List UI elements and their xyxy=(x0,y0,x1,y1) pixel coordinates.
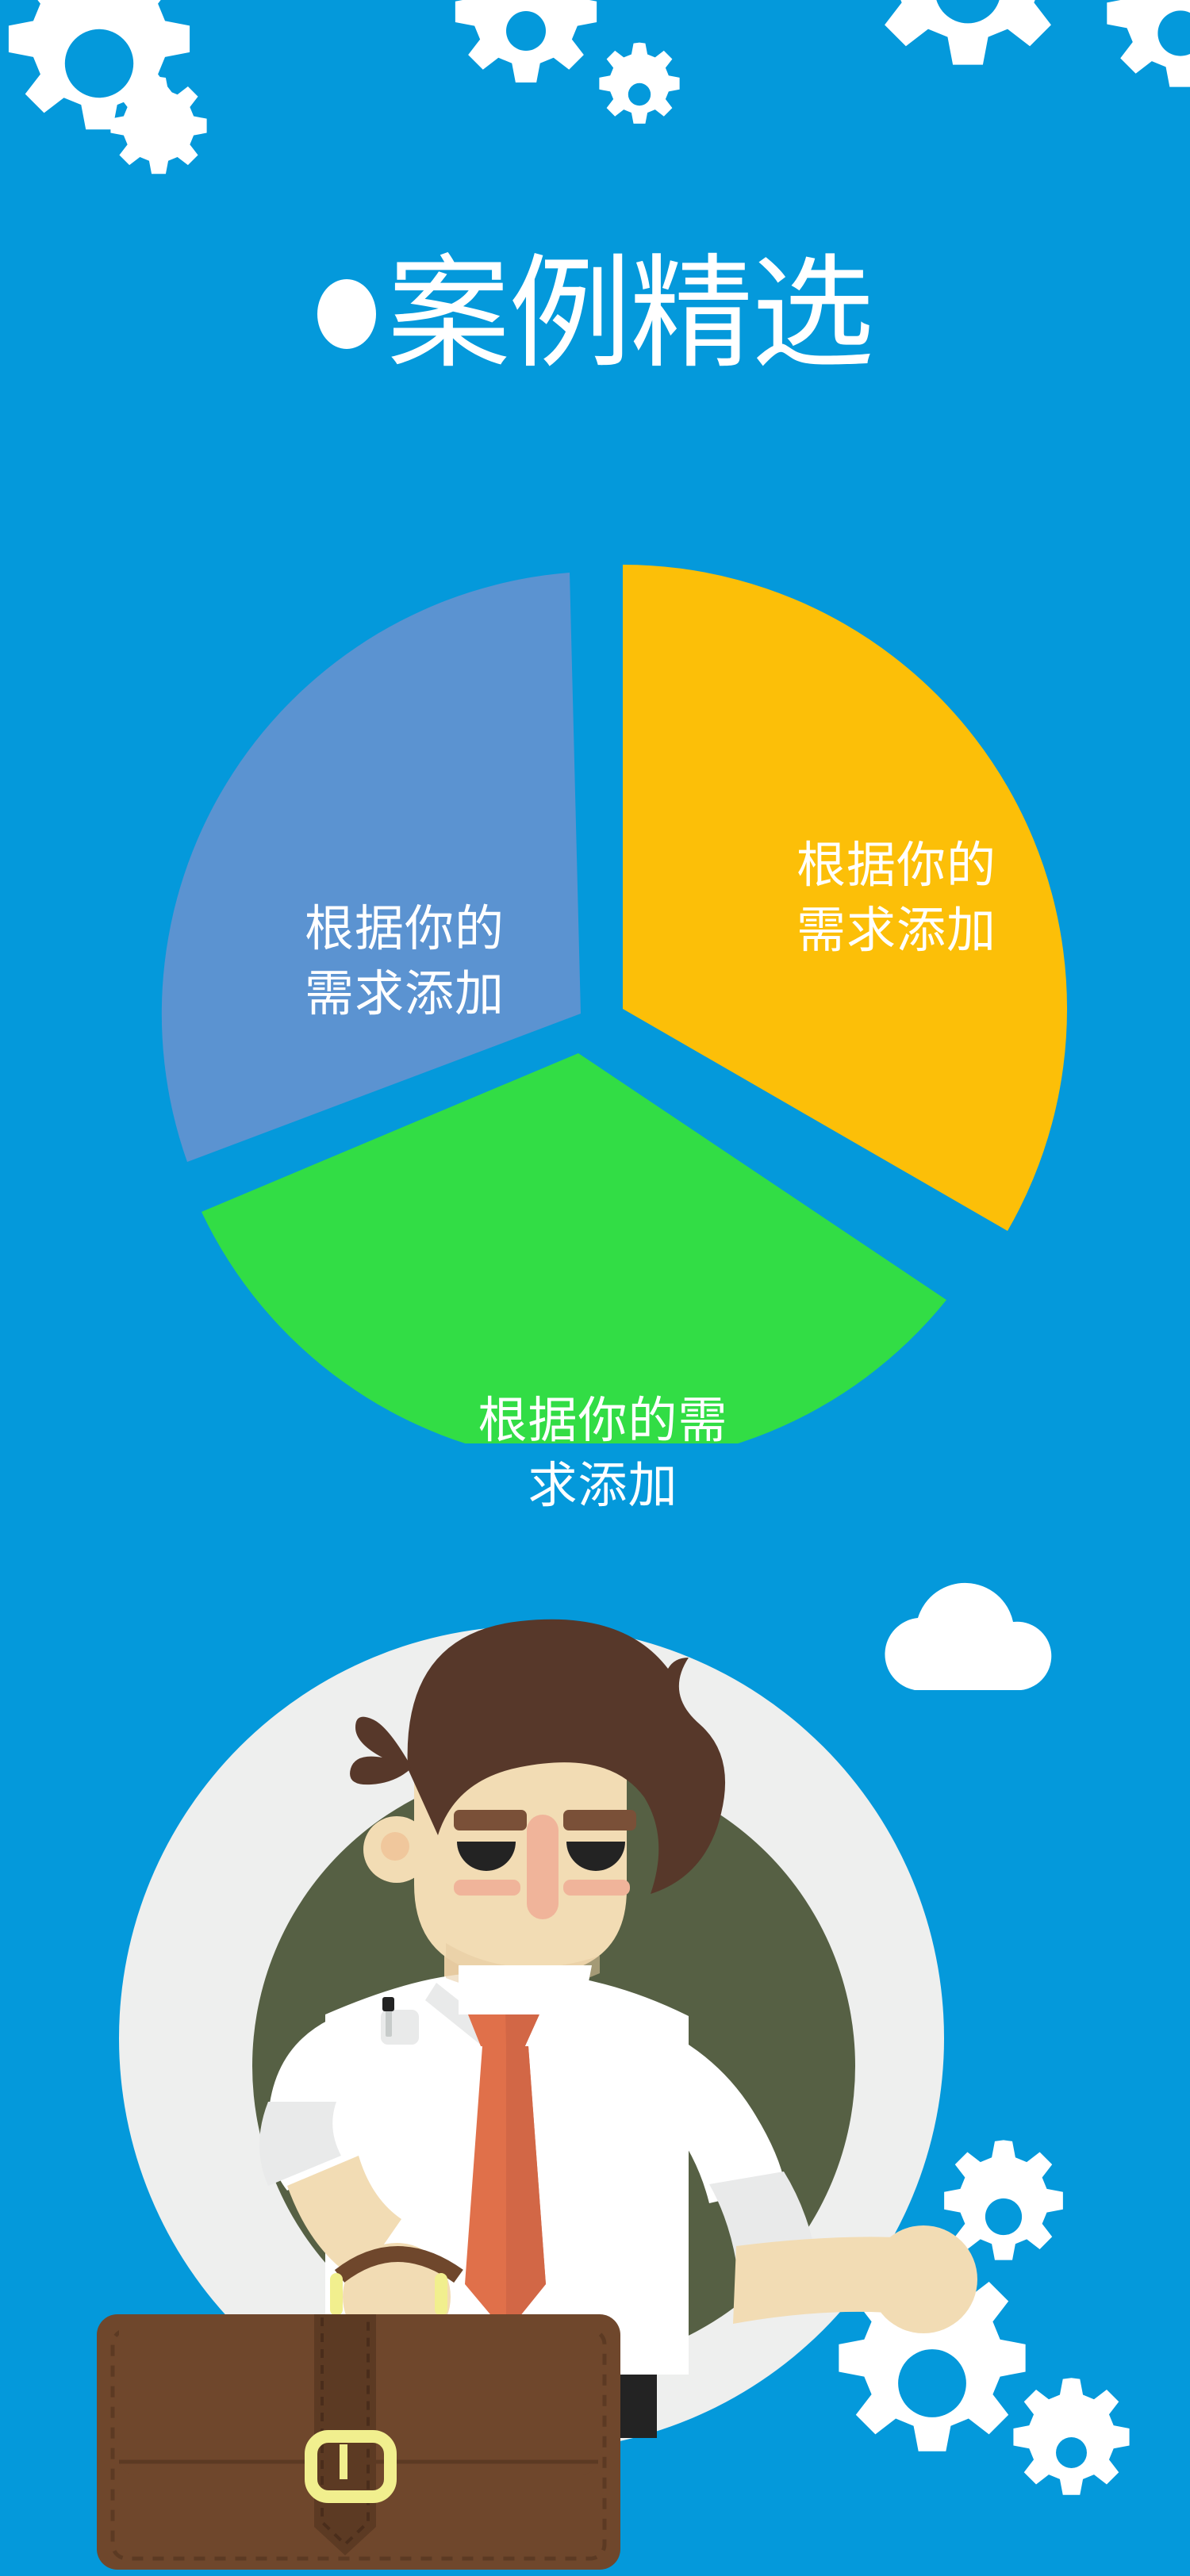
nose xyxy=(527,1815,559,1919)
briefcase-handle-ring-right xyxy=(435,2273,447,2316)
pie-slice-green-label: 根据你的需 求添加 xyxy=(381,1388,825,1518)
pen-cap xyxy=(382,1997,394,2011)
pie-chart: 根据你的 需求添加 根据你的 需求添加 根据你的需 求添加 xyxy=(119,492,1071,1443)
gear-top-right-large-icon xyxy=(825,0,1111,133)
businessman-illustration xyxy=(87,1531,1023,2576)
filled-circle-bullet-icon xyxy=(317,279,376,349)
page-title-row: 案例精选 xyxy=(0,252,1190,375)
pie-slice-yellow-label: 根据你的 需求添加 xyxy=(674,833,1119,963)
ear-inner xyxy=(381,1832,409,1861)
gear-top-left-large-icon xyxy=(0,0,226,190)
poster-canvas: 案例精选 根据你的 需求添加 根据你的 需求添加 根据你的需 求添加 xyxy=(0,0,1190,2576)
gear-top-left-small-icon xyxy=(91,71,226,206)
gear-top-right-edge-icon xyxy=(1077,0,1190,136)
pie-slice-blue-label: 根据你的 需求添加 xyxy=(194,896,615,1026)
businessman-illustration-svg xyxy=(87,1531,1023,2576)
blush-right xyxy=(563,1880,630,1896)
pie-slice-blue[interactable] xyxy=(162,573,581,1162)
page-title: 案例精选 xyxy=(387,252,873,375)
gear-top-center-mid-icon xyxy=(427,0,625,130)
eyebrow-left xyxy=(454,1810,527,1830)
mouth-teeth xyxy=(459,1965,592,2014)
briefcase-buckle-tongue xyxy=(340,2444,347,2479)
blush-left xyxy=(454,1880,520,1896)
gear-top-center-small-icon xyxy=(583,38,696,151)
briefcase-handle-ring-left xyxy=(330,2273,343,2316)
hand-right xyxy=(869,2225,977,2333)
eyebrow-right xyxy=(563,1810,636,1830)
